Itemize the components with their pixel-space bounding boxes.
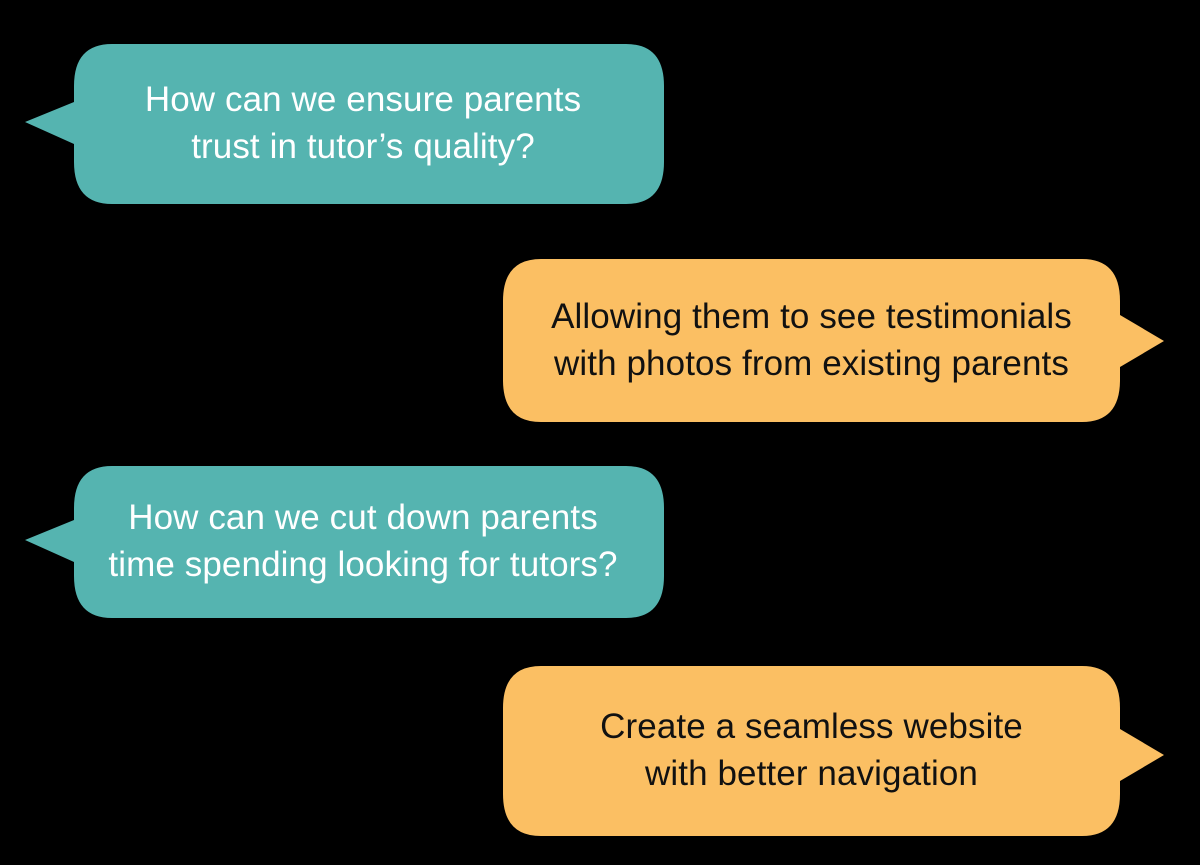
speech-bubble-conversation: How can we ensure parents trust in tutor… bbox=[0, 0, 1200, 865]
speech-bubble-shape-orange-1 bbox=[503, 259, 1165, 422]
speech-bubble-answer-2[interactable]: Create a seamless website with better na… bbox=[503, 666, 1165, 836]
speech-bubble-shape-teal-1 bbox=[24, 44, 664, 204]
speech-bubble-question-1[interactable]: How can we ensure parents trust in tutor… bbox=[24, 44, 664, 204]
speech-bubble-answer-1[interactable]: Allowing them to see testimonials with p… bbox=[503, 259, 1165, 422]
speech-bubble-shape-orange-2 bbox=[503, 666, 1165, 836]
speech-bubble-question-2[interactable]: How can we cut down parents time spendin… bbox=[24, 466, 664, 618]
speech-bubble-shape-teal-2 bbox=[24, 466, 664, 618]
